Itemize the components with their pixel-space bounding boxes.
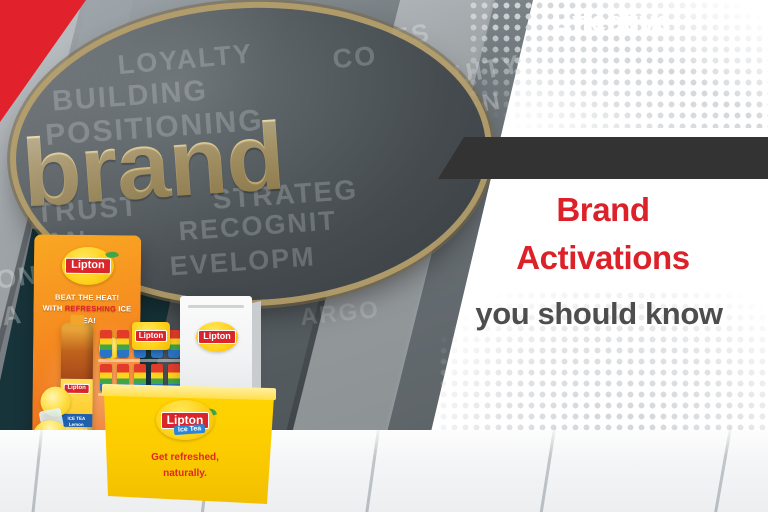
lipton-mini-sign: Lipton <box>132 322 170 350</box>
lipton-cooler: Lipton <box>180 296 252 396</box>
lid-word-loyalty: LOYALTY <box>117 38 255 81</box>
headline-line-effective: Effective <box>438 6 768 39</box>
rack-bottle <box>117 330 129 358</box>
counter-tagline-line1: Get refreshed, <box>104 450 266 466</box>
lid-word-co: CO <box>331 40 378 75</box>
rollup-headline-prefix: WITH <box>43 304 65 313</box>
plank-seam <box>536 424 556 512</box>
cooler-logo-label: Lipton <box>198 330 236 343</box>
lipton-promo-counter: Lipton Ice Tea Get refreshed, naturally. <box>104 392 274 504</box>
plank-seam <box>29 424 43 512</box>
rollup-headline-highlight: REFRESHING <box>65 304 116 314</box>
bottle-variant-strip: ICE TEA Lemon Flavoured <box>60 414 92 427</box>
rack-bottle <box>100 330 112 358</box>
lipton-bottle-graphic: Lipton ICE TEA Lemon Flavoured <box>60 323 93 441</box>
rollup-headline: BEAT THE HEAT! WITH REFRESHING ICE TEA! <box>37 291 136 326</box>
headline-dark-bar <box>438 137 768 179</box>
plank-seam <box>710 425 732 512</box>
bottle-cap <box>70 315 84 325</box>
lipton-logo-label: Lipton <box>65 258 111 274</box>
mini-sign-label: Lipton <box>135 330 167 342</box>
headline-line-activations: Activations <box>438 240 768 277</box>
lid-word-development: EVELOPM <box>169 241 317 282</box>
headline-line-brand: Brand <box>438 192 768 229</box>
lid-brand-word: brand <box>19 108 287 222</box>
cooler-side-panel <box>252 301 261 397</box>
plank-seam <box>362 424 380 512</box>
counter-tagline: Get refreshed, naturally. <box>104 450 266 482</box>
lipton-logo-icon: Lipton <box>196 322 238 352</box>
promo-banner: ES QUITY TEN ON A ARGO LOYALTY CO BUILDI… <box>0 0 768 512</box>
counter-tagline-line2: naturally. <box>104 466 266 482</box>
headline-line-subtitle: you should know <box>430 296 768 332</box>
